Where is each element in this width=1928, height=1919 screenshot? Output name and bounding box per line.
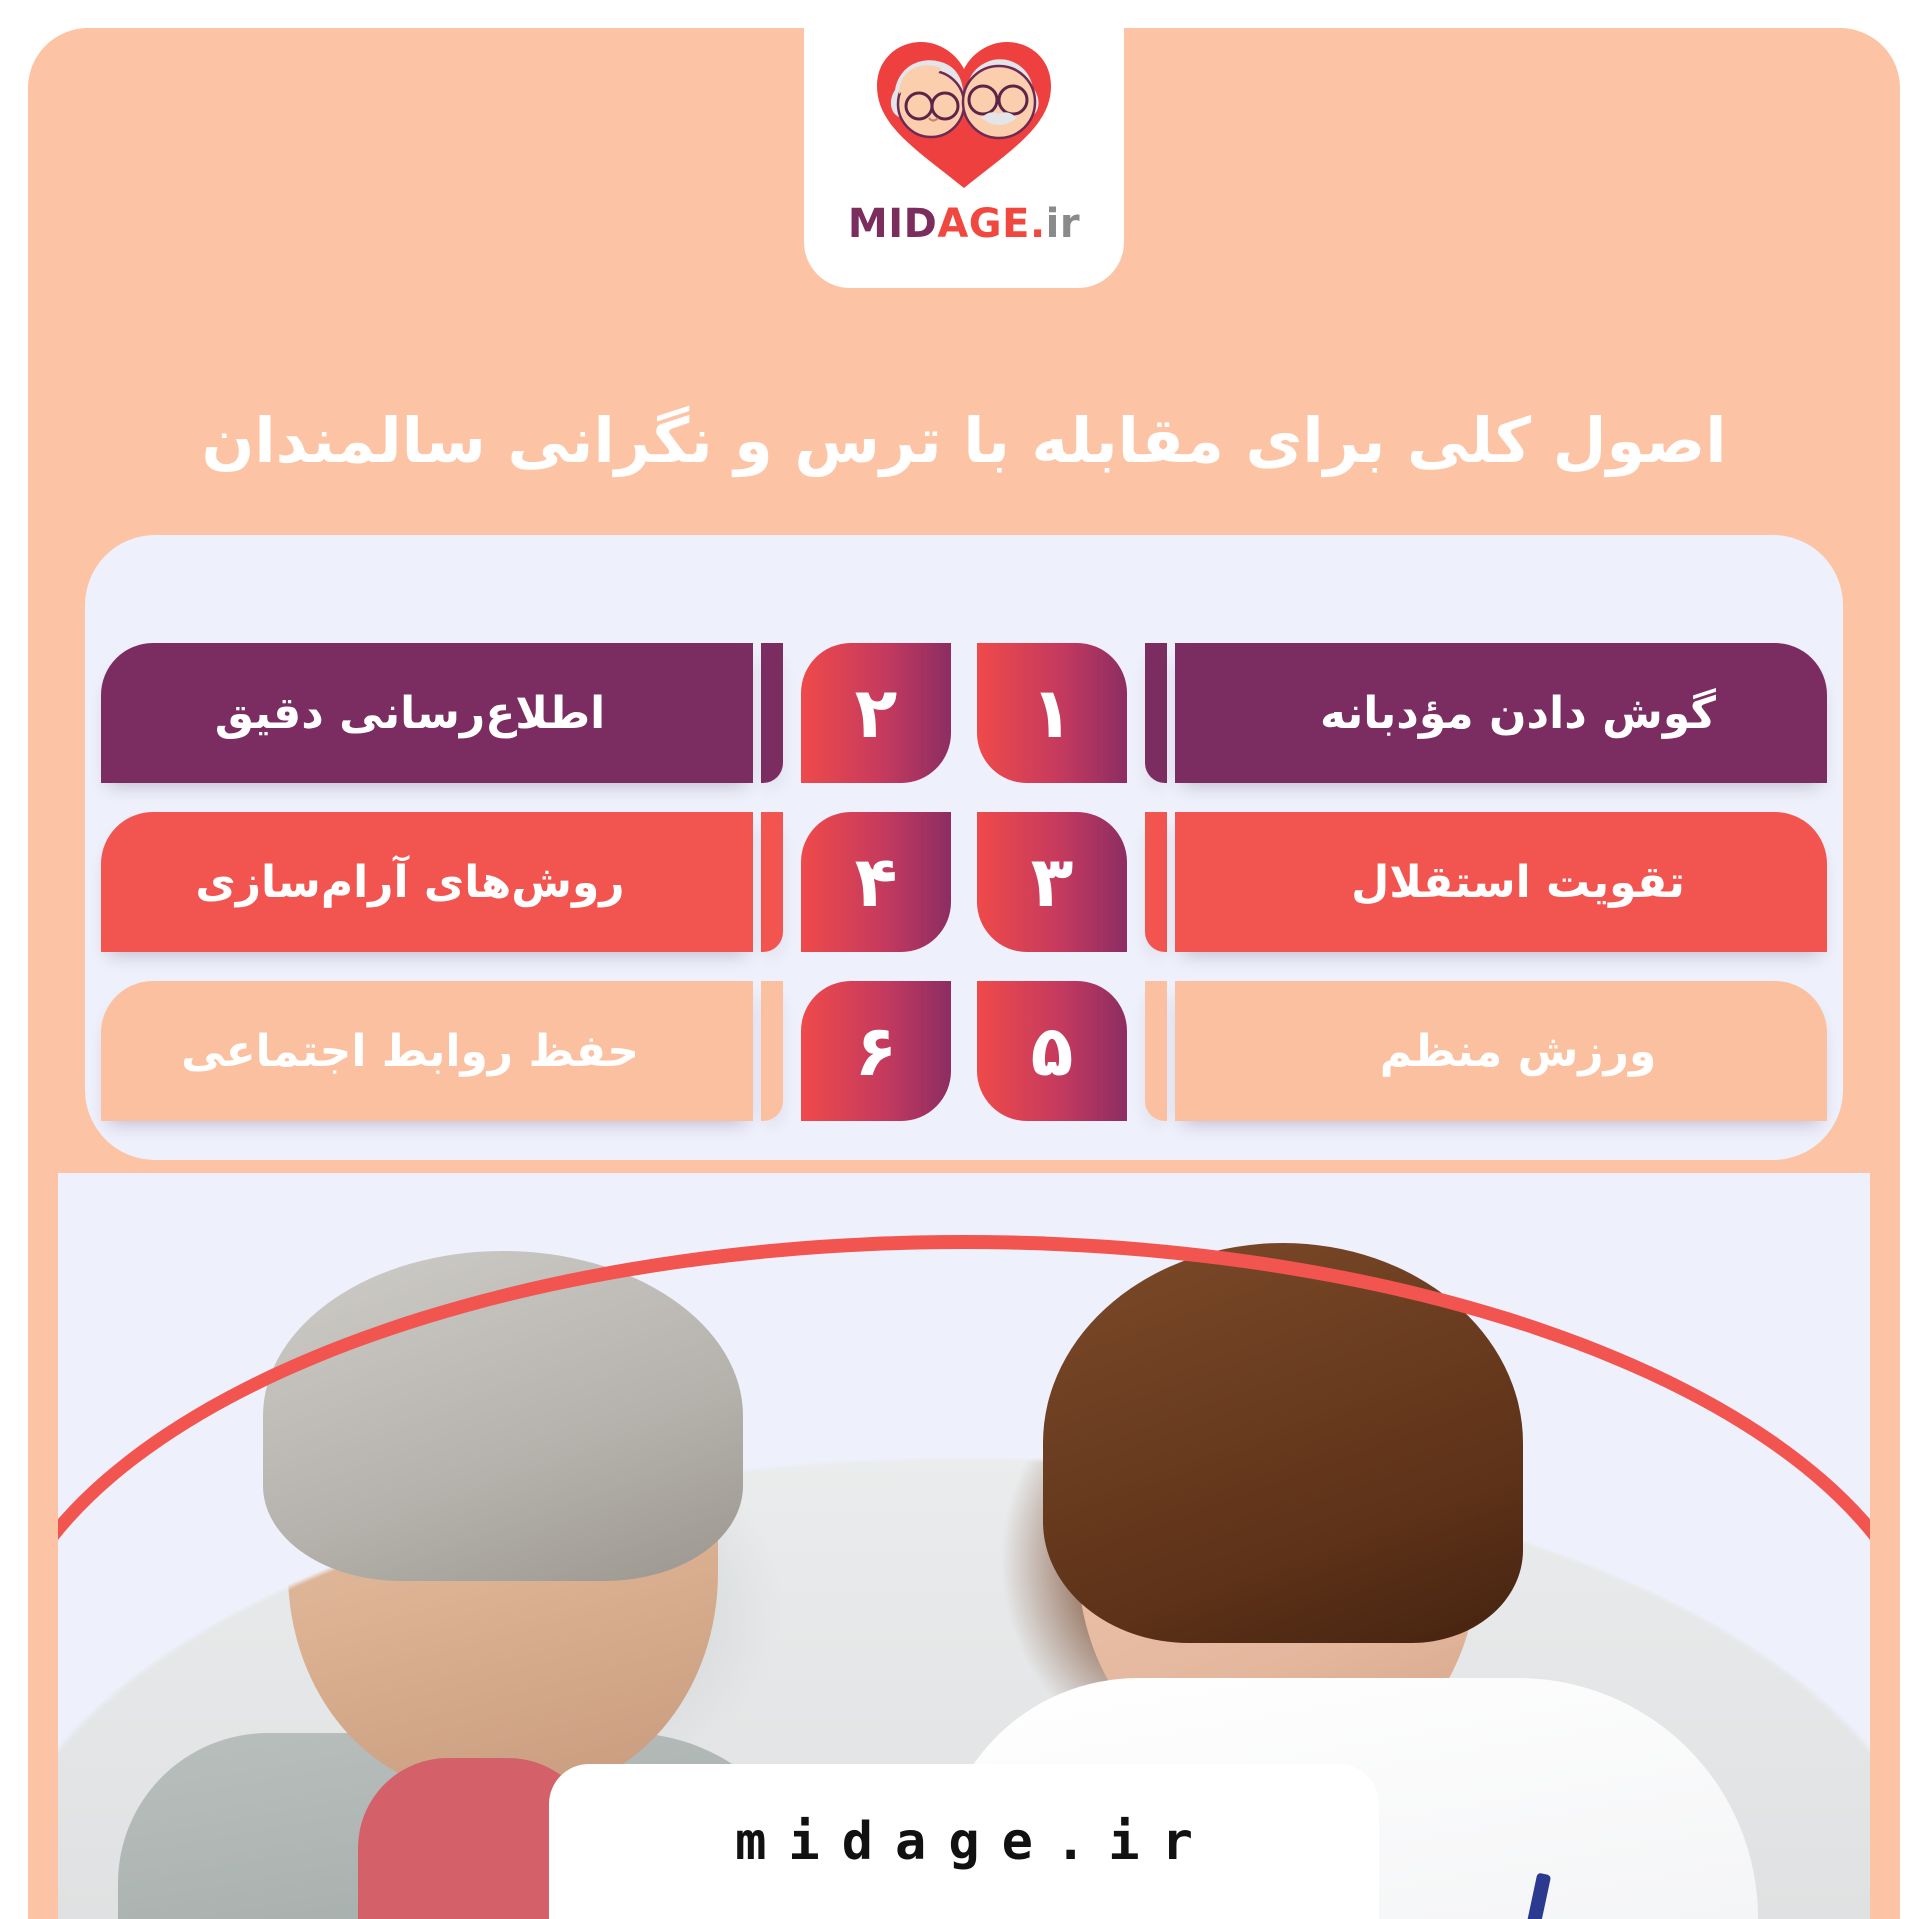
list-number: ۲	[855, 678, 898, 748]
list-item-1[interactable]: گوش دادن مؤدبانه	[1175, 643, 1827, 783]
list-item-label: روش‌های آرام‌سازی	[195, 857, 624, 908]
list-number-badge-1: ۱	[977, 643, 1127, 783]
poster-frame: MIDAGE.ir اصول کلی برای مقابله با ترس و …	[28, 28, 1900, 1919]
page-title: اصول کلی برای مقابله با ترس و نگرانی سال…	[28, 402, 1900, 480]
list-item-label: تقویت استقلال	[1351, 857, 1685, 908]
brand-wordmark: MIDAGE.ir	[848, 201, 1080, 247]
bar-tab-4	[761, 812, 783, 952]
bar-tab-6	[761, 981, 783, 1121]
bar-tab-1	[1145, 643, 1167, 783]
list-item-label: ورزش منظم	[1380, 1026, 1657, 1077]
brand-wordmark-dot: .	[1030, 201, 1046, 247]
list-row: ورزش منظم ۵ حفظ روابط اجتماعی ۶	[85, 981, 1843, 1121]
list-item-label: حفظ روابط اجتماعی	[181, 1026, 639, 1077]
list-number-badge-5: ۵	[977, 981, 1127, 1121]
list-number: ۶	[855, 1016, 898, 1086]
list-number: ۱	[1031, 678, 1074, 748]
list-number: ۵	[1031, 1016, 1074, 1086]
brand-wordmark-age: AGE	[937, 201, 1030, 247]
list-number-badge-2: ۲	[801, 643, 951, 783]
nurse-hair	[1043, 1243, 1523, 1643]
bar-tab-3	[1145, 812, 1167, 952]
list-number-badge-3: ۳	[977, 812, 1127, 952]
list-item-3[interactable]: تقویت استقلال	[1175, 812, 1827, 952]
elderly-woman-hair	[263, 1251, 743, 1581]
bar-tab-2	[761, 643, 783, 783]
bar-tab-5	[1145, 981, 1167, 1121]
list-item-5[interactable]: ورزش منظم	[1175, 981, 1827, 1121]
list-item-6[interactable]: حفظ روابط اجتماعی	[101, 981, 753, 1121]
list-item-label: گوش دادن مؤدبانه	[1320, 688, 1716, 739]
brand-wordmark-tld: ir	[1046, 201, 1080, 247]
footer-website-text: midage.ir	[713, 1812, 1215, 1872]
list-item-label: اطلاع‌رسانی دقیق	[215, 688, 605, 739]
list-row: تقویت استقلال ۳ روش‌های آرام‌سازی ۴	[85, 812, 1843, 952]
footer-website-pill[interactable]: midage.ir	[549, 1764, 1379, 1919]
brand-logo-card[interactable]: MIDAGE.ir	[804, 28, 1124, 288]
list-row: گوش دادن مؤدبانه ۱ اطلاع‌رسانی دقیق ۲	[85, 643, 1843, 783]
brand-wordmark-mid: MID	[848, 201, 937, 247]
list-item-4[interactable]: روش‌های آرام‌سازی	[101, 812, 753, 952]
list-number-badge-4: ۴	[801, 812, 951, 952]
list-item-2[interactable]: اطلاع‌رسانی دقیق	[101, 643, 753, 783]
list-number-badge-6: ۶	[801, 981, 951, 1121]
elderly-couple-heart-icon	[859, 28, 1069, 197]
principles-panel: گوش دادن مؤدبانه ۱ اطلاع‌رسانی دقیق ۲ تق…	[85, 535, 1843, 1160]
list-number: ۴	[855, 847, 898, 917]
list-number: ۳	[1031, 847, 1074, 917]
